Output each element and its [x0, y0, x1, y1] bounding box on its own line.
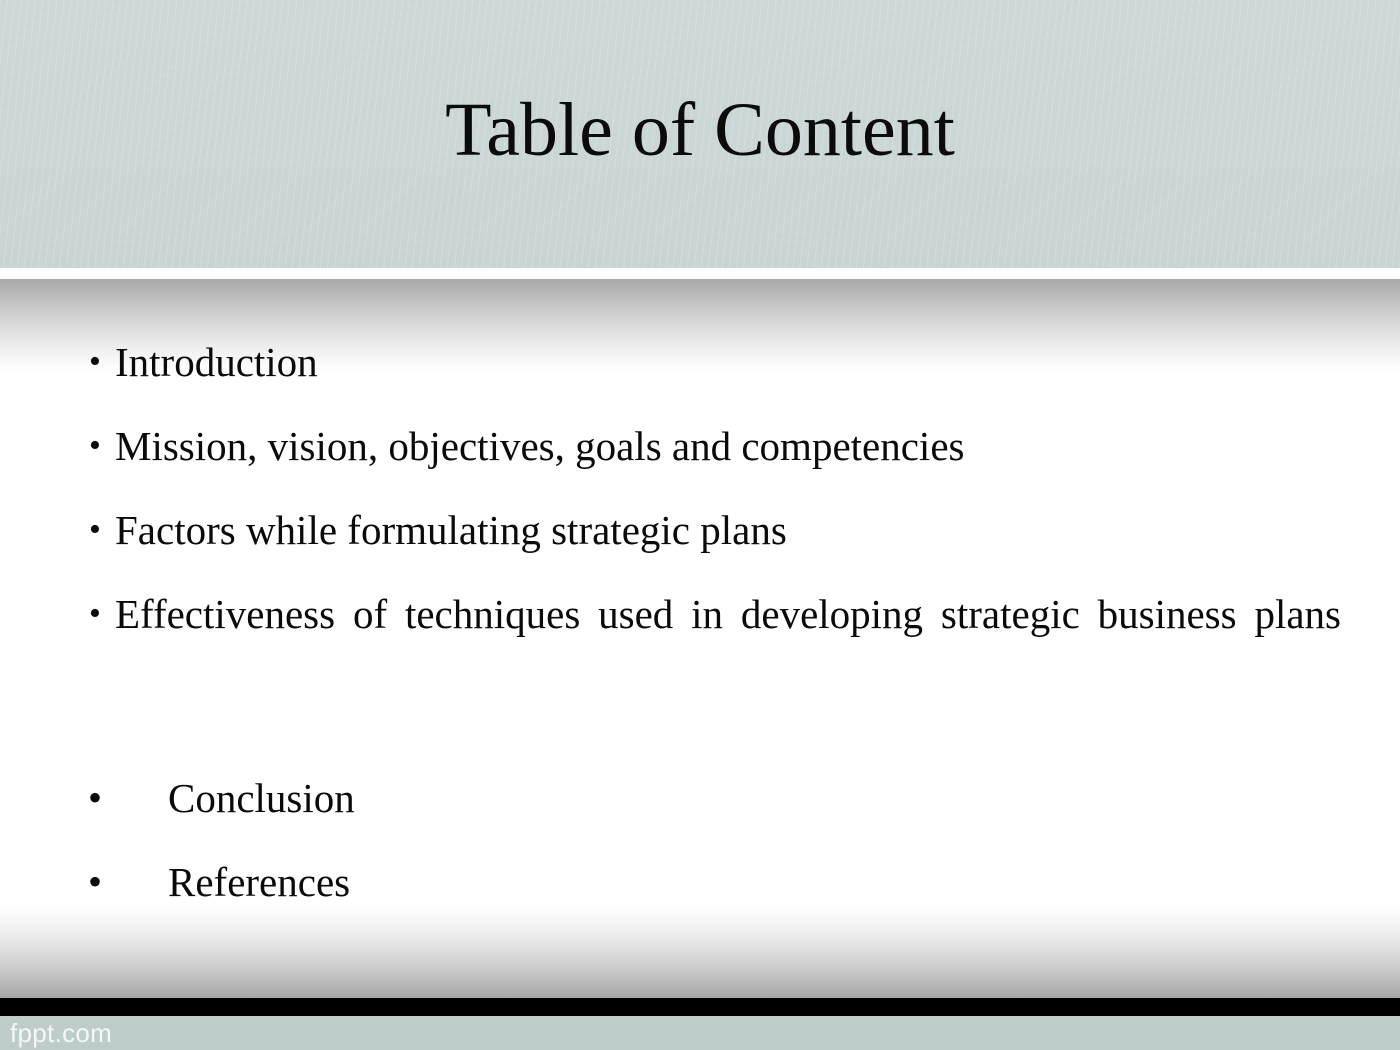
list-item-label: Mission, vision, objectives, goals and c… [115, 404, 1341, 488]
list-item: • Introduction [89, 320, 1341, 404]
bullet-icon: • [88, 840, 102, 924]
bullet-icon: • [88, 756, 102, 840]
page-title: Table of Content [0, 86, 1400, 174]
list-spacer [0, 740, 1400, 756]
list-item-label: Effectiveness of techniques used in deve… [115, 572, 1341, 740]
list-item-label: Conclusion [168, 756, 1340, 840]
footer-black-band [0, 998, 1400, 1016]
list-item: • Effectiveness of techniques used in de… [89, 572, 1341, 740]
presentation-slide: Table of Content • Introduction • Missio… [0, 0, 1400, 1050]
list-item-label: Factors while formulating strategic plan… [115, 488, 1341, 572]
list-item: • Mission, vision, objectives, goals and… [89, 404, 1341, 488]
bullet-icon: • [89, 404, 101, 488]
list-item-label: Introduction [115, 320, 1341, 404]
bullet-icon: • [89, 488, 101, 572]
list-item: • References [88, 840, 1340, 924]
bullet-icon: • [89, 320, 101, 404]
footer-brand-label: fppt.com [10, 1018, 112, 1048]
footer-band [0, 1016, 1400, 1050]
list-item: • Factors while formulating strategic pl… [89, 488, 1341, 572]
bullet-icon: • [89, 572, 101, 656]
header-divider-gap [0, 268, 1400, 279]
slide-body: • Introduction • Mission, vision, object… [0, 320, 1400, 920]
list-item-label: References [168, 840, 1340, 924]
list-item: • Conclusion [88, 756, 1340, 840]
